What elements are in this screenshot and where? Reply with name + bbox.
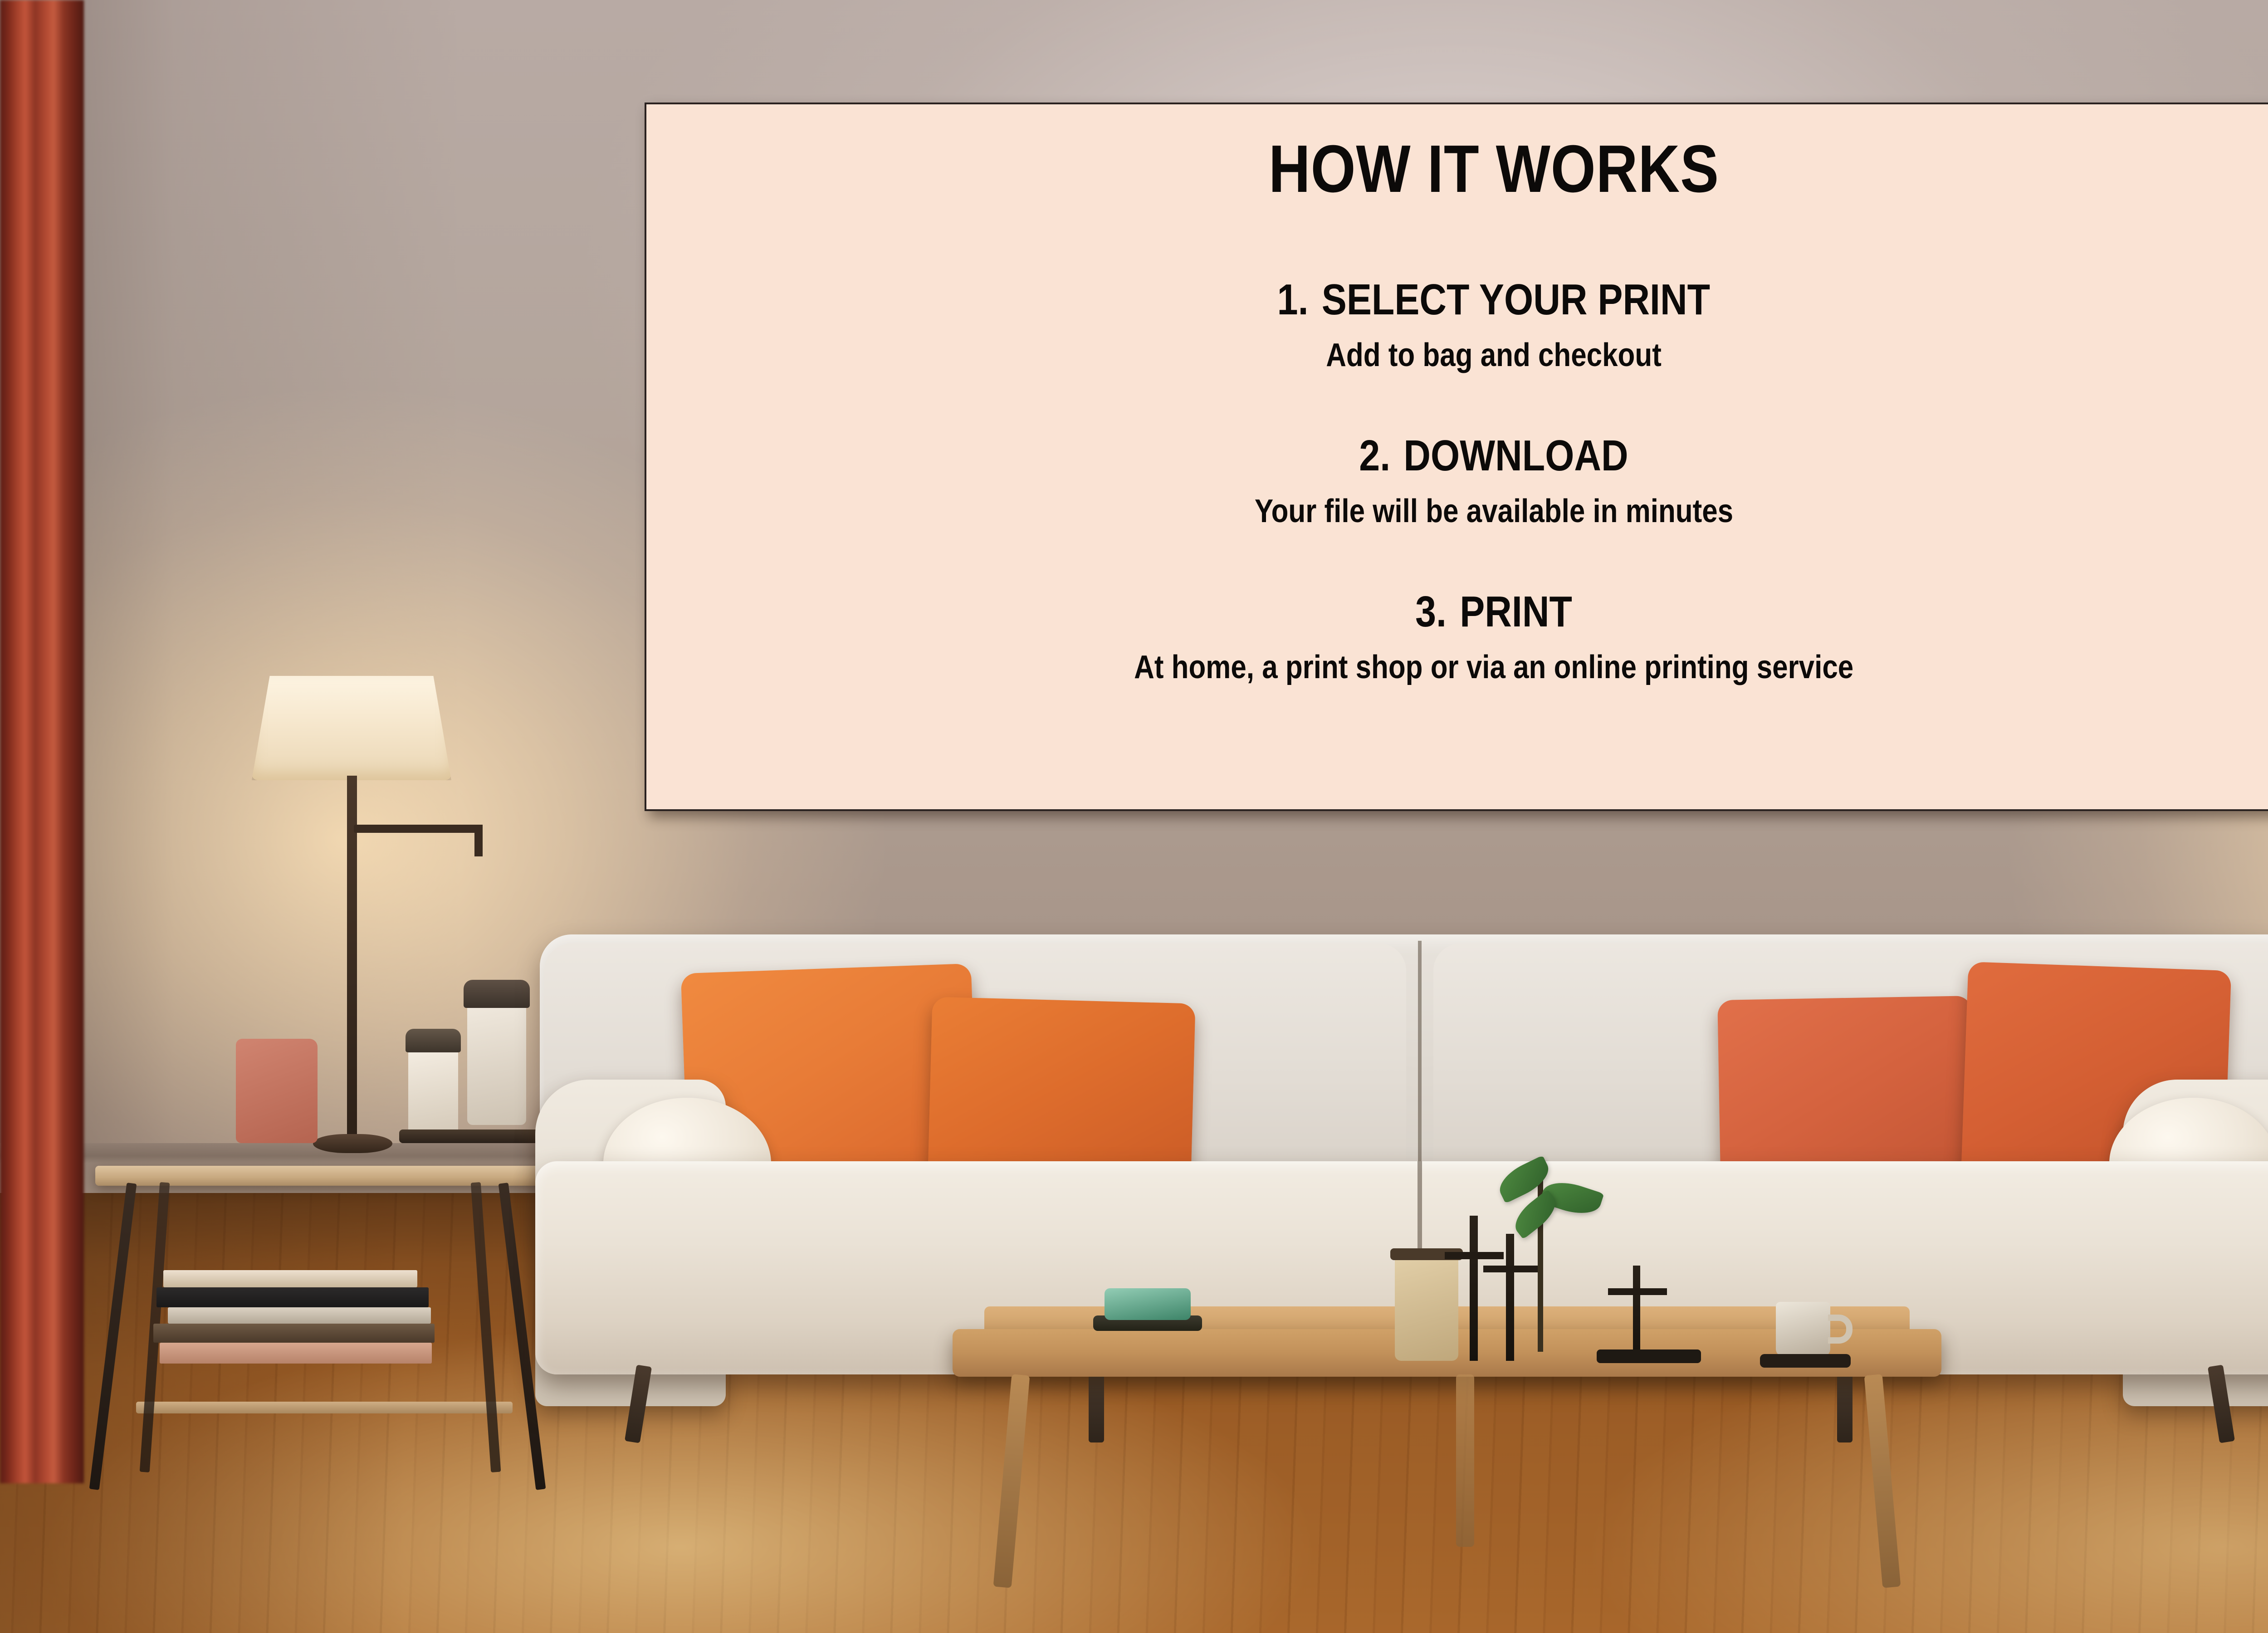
step-number-2: 2. — [1359, 431, 1390, 480]
step-item-2: 2.DOWNLOAD Your file will be available i… — [665, 431, 2268, 530]
table-lamp-left-base — [313, 1134, 392, 1153]
candlestick-tall — [1470, 1216, 1478, 1361]
coffee-table-leg — [1456, 1374, 1474, 1547]
step-subtext-1: Add to bag and checkout — [1326, 337, 1662, 374]
sofa-leg — [1837, 1365, 1853, 1442]
book-stack-left — [168, 1307, 431, 1324]
book-stack-left — [160, 1343, 432, 1364]
step-title-1: SELECT YOUR PRINT — [1322, 275, 1710, 324]
french-press-small-lid — [406, 1029, 461, 1052]
mug-saucer — [1760, 1354, 1851, 1368]
candlestick-short-arm — [1608, 1288, 1667, 1295]
plant-sprig — [1538, 1161, 1543, 1352]
sofa-leg — [1089, 1365, 1104, 1442]
candlestick-mid — [1506, 1234, 1514, 1361]
terracotta-jug — [236, 1039, 318, 1143]
room-scene: HOW IT WORKS 1.SELECT YOUR PRINT Add to … — [0, 0, 2268, 1633]
tray-left — [399, 1129, 544, 1143]
coffee-mug — [1776, 1302, 1830, 1356]
french-press-large — [467, 993, 526, 1125]
poster-content: HOW IT WORKS 1.SELECT YOUR PRINT Add to … — [646, 104, 2268, 809]
step-subtext-3: At home, a print shop or via an online p… — [1134, 649, 1853, 686]
lamp-arm-left — [354, 825, 481, 833]
step-heading-2: 2.DOWNLOAD — [1359, 431, 1628, 481]
book-stack-left — [163, 1270, 417, 1287]
step-number-1: 1. — [1277, 275, 1309, 324]
candlestick-mid-arm — [1483, 1266, 1538, 1272]
step-heading-3: 3.PRINT — [1415, 587, 1572, 637]
french-press-large-lid — [464, 980, 530, 1008]
green-candle — [1105, 1288, 1191, 1320]
table-lamp-left-shade — [252, 676, 451, 780]
candlestick-short — [1633, 1266, 1640, 1361]
vase-beige — [1395, 1257, 1458, 1361]
step-item-3: 3.PRINT At home, a print shop or via an … — [665, 587, 2268, 686]
step-title-2: DOWNLOAD — [1403, 431, 1628, 480]
step-number-3: 3. — [1415, 587, 1447, 636]
steps-list: 1.SELECT YOUR PRINT Add to bag and check… — [665, 275, 2268, 686]
book-stack-left — [153, 1324, 435, 1343]
page-title: HOW IT WORKS — [1268, 131, 1719, 208]
step-title-3: PRINT — [1460, 587, 1572, 636]
lamp-arm-left — [474, 825, 483, 856]
step-subtext-2: Your file will be available in minutes — [1254, 493, 1733, 530]
candlestick-tall-arm — [1445, 1252, 1504, 1259]
step-item-1: 1.SELECT YOUR PRINT Add to bag and check… — [665, 275, 2268, 374]
candle-base-plate — [1597, 1349, 1701, 1363]
book-stack-left — [156, 1287, 429, 1307]
step-heading-1: 1.SELECT YOUR PRINT — [1277, 275, 1710, 325]
coffee-mug-handle — [1828, 1315, 1853, 1344]
wall-art-poster[interactable]: HOW IT WORKS 1.SELECT YOUR PRINT Add to … — [645, 103, 2268, 811]
curtain — [0, 0, 84, 1483]
french-press-small — [408, 1043, 458, 1134]
